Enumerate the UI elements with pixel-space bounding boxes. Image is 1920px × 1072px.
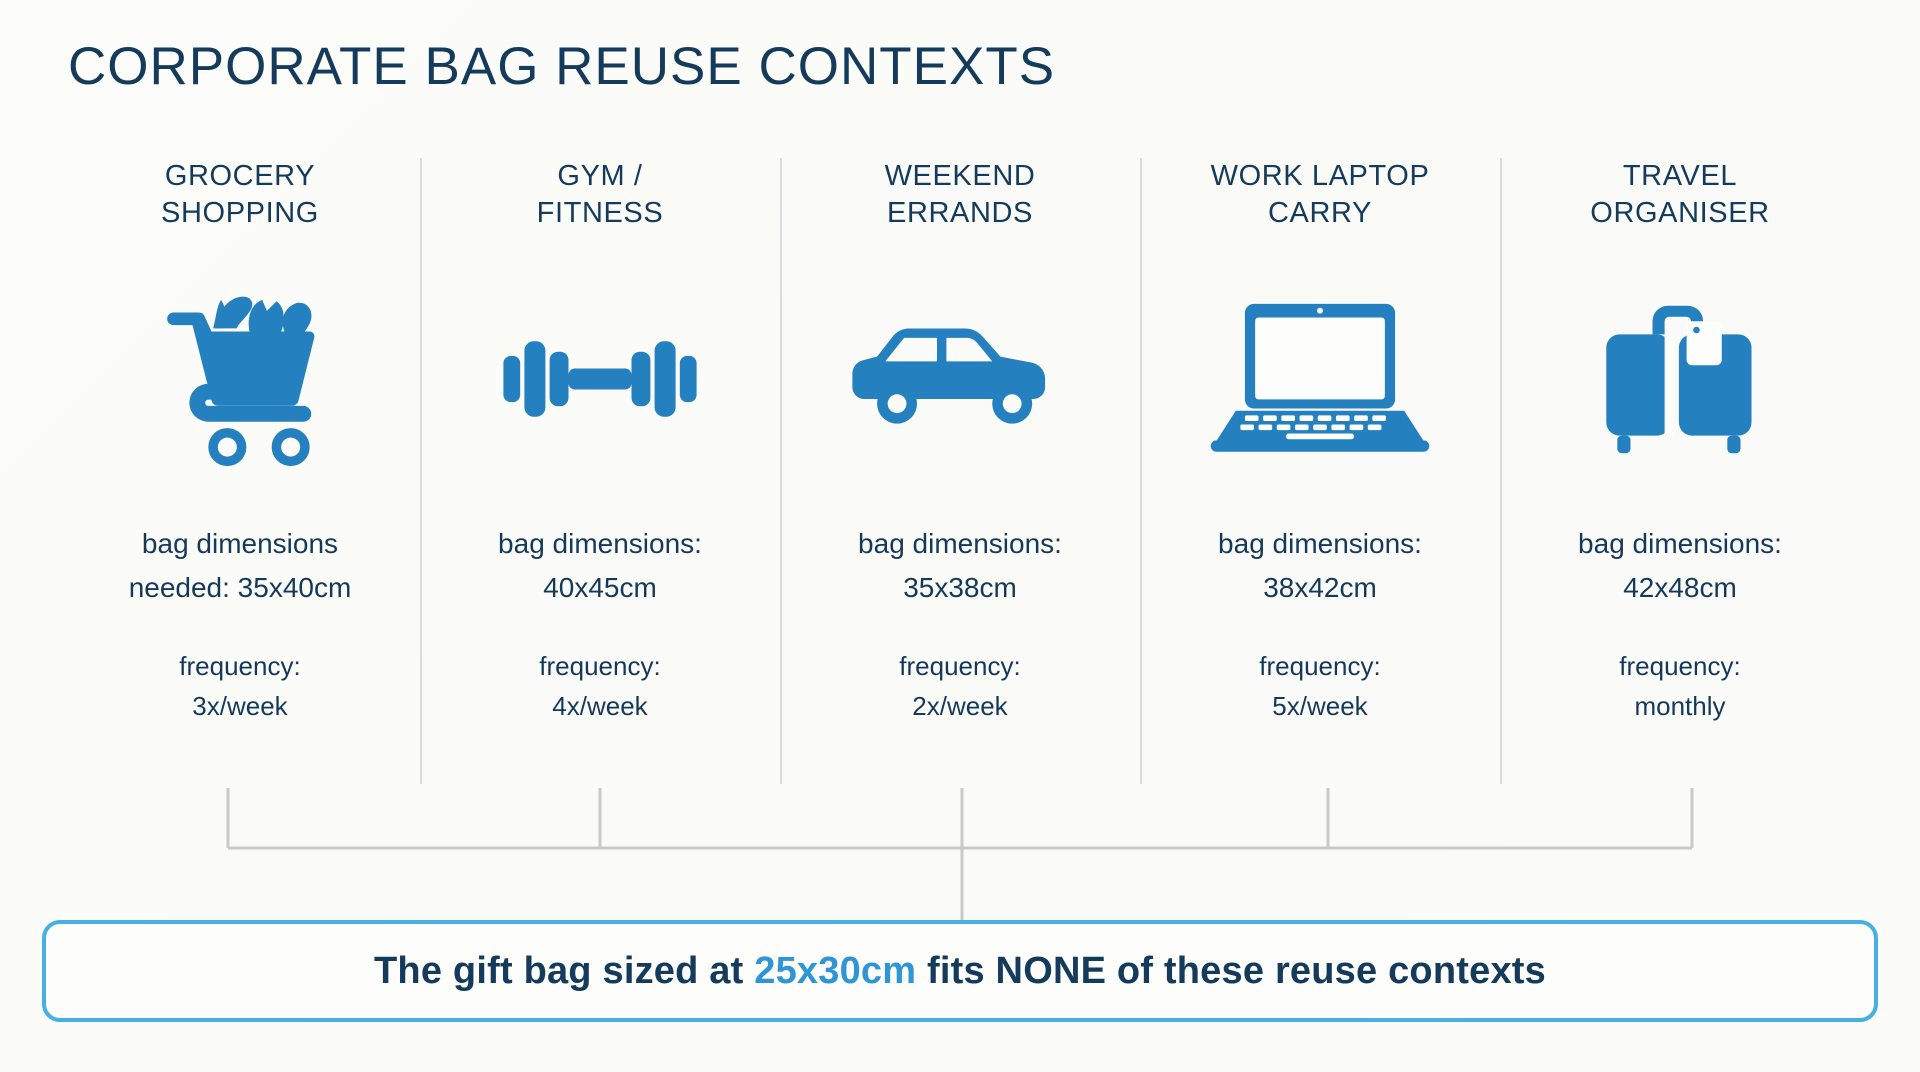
context-columns: GROCERY SHOPPING bag dimensions needed: … xyxy=(60,150,1860,790)
frequency-text: frequency: 3x/week xyxy=(179,646,300,726)
car-icon xyxy=(843,274,1078,484)
bag-dimensions-text: bag dimensions: 38x42cm xyxy=(1218,522,1422,610)
context-column-grocery-shopping: GROCERY SHOPPING bag dimensions needed: … xyxy=(60,150,420,790)
frequency-text: frequency: 2x/week xyxy=(899,646,1020,726)
bag-dimensions-text: bag dimensions needed: 35x40cm xyxy=(129,522,352,610)
page-title: CORPORATE BAG REUSE CONTEXTS xyxy=(68,36,1055,97)
callout-text-after: fits NONE of these reuse contexts xyxy=(916,950,1546,992)
frequency-text: frequency: 4x/week xyxy=(539,646,660,726)
connector-lines xyxy=(0,780,1920,940)
dumbbell-icon xyxy=(495,274,705,484)
column-heading: TRAVEL ORGANISER xyxy=(1590,158,1769,232)
frequency-text: frequency: 5x/week xyxy=(1259,646,1380,726)
laptop-icon xyxy=(1205,274,1435,484)
context-column-gym-fitness: GYM / FITNESS bag dimensions: 40x45cm fr… xyxy=(420,150,780,790)
column-heading: GYM / FITNESS xyxy=(537,158,664,232)
infographic-canvas: CORPORATE BAG REUSE CONTEXTS GROCERY SHO… xyxy=(0,0,1920,1072)
bag-dimensions-text: bag dimensions: 35x38cm xyxy=(858,522,1062,610)
bag-dimensions-text: bag dimensions: 40x45cm xyxy=(498,522,702,610)
context-column-travel-organiser: TRAVEL ORGANISER bag dimensions: 42x48cm… xyxy=(1500,150,1860,790)
callout-text: The gift bag sized at 25x30cm fits NONE … xyxy=(374,950,1546,993)
bag-dimensions-text: bag dimensions: 42x48cm xyxy=(1578,522,1782,610)
callout-highlight-size: 25x30cm xyxy=(754,950,916,992)
context-column-weekend-errands: WEEKEND ERRANDS bag dimensions: 35x38cm … xyxy=(780,150,1140,790)
column-heading: WORK LAPTOP CARRY xyxy=(1211,158,1430,232)
column-heading: WEEKEND ERRANDS xyxy=(885,158,1036,232)
shopping-cart-icon xyxy=(145,274,335,484)
frequency-text: frequency: monthly xyxy=(1619,646,1740,726)
column-heading: GROCERY SHOPPING xyxy=(161,158,319,232)
suitcase-icon xyxy=(1585,274,1775,484)
conclusion-callout: The gift bag sized at 25x30cm fits NONE … xyxy=(42,920,1878,1022)
context-column-work-laptop-carry: WORK LAPTOP CARRY xyxy=(1140,150,1500,790)
callout-text-before: The gift bag sized at xyxy=(374,950,754,992)
